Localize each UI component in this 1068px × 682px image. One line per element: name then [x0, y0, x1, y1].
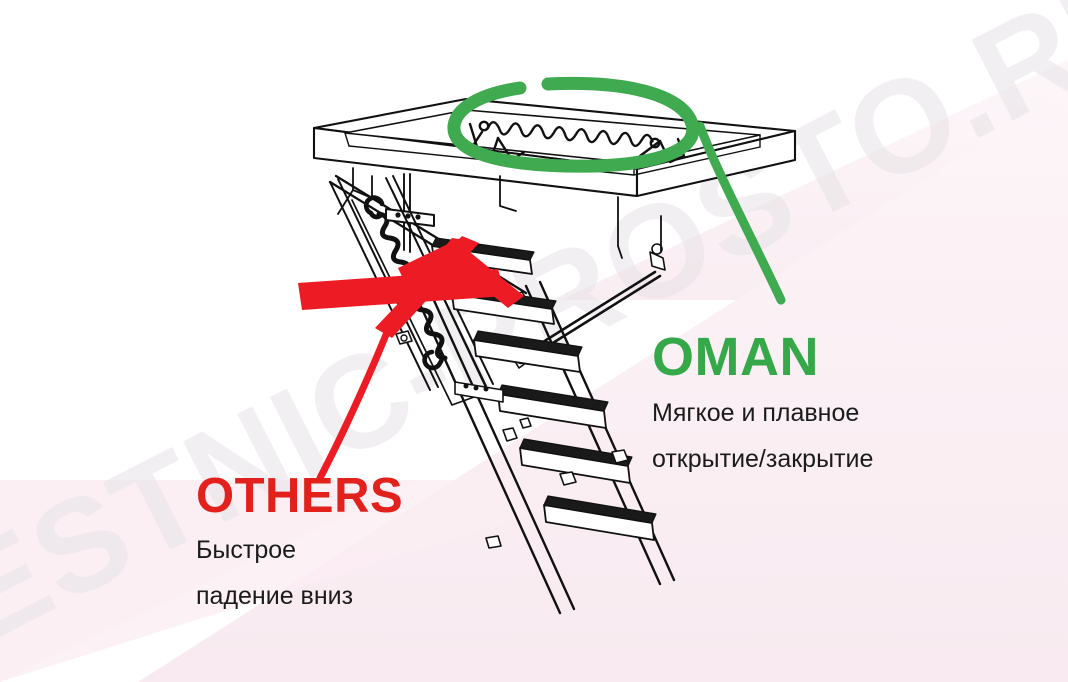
green-pointer-tail: [700, 126, 781, 300]
callout-oman: OMAN Мягкое и плавное открытие/закрытие: [652, 330, 873, 476]
others-title: OTHERS: [196, 472, 403, 521]
red-pointer-tail: [320, 320, 392, 478]
others-line-1: Быстрое: [196, 534, 403, 567]
callout-others: OTHERS Быстрое падение вниз: [196, 472, 403, 613]
green-oval-marker: [454, 83, 693, 166]
promo-image: LESTNIC-PROSTO.RU: [0, 0, 1068, 682]
annotation-markers: [0, 0, 1068, 682]
oman-title: OMAN: [652, 330, 873, 384]
others-line-2: падение вниз: [196, 580, 403, 613]
oman-line-2: открытие/закрытие: [652, 443, 873, 476]
oman-line-1: Мягкое и плавное: [652, 397, 873, 430]
red-x-marker: [298, 236, 524, 338]
